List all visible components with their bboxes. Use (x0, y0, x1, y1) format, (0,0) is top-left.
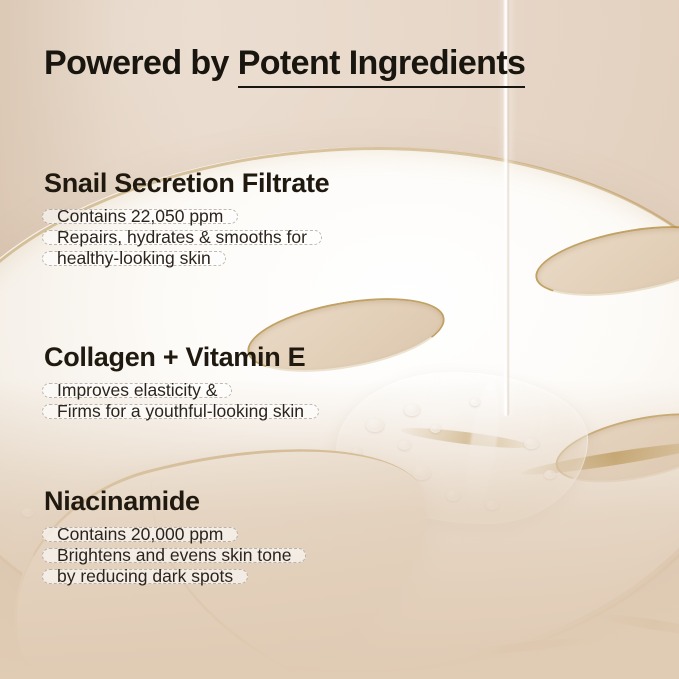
page-title-lead: Powered by (44, 44, 238, 82)
ingredient-tag: healthy-looking skin (42, 251, 226, 266)
page-title: Powered by Potent Ingredients (44, 44, 525, 83)
marketing-image: Powered by Potent Ingredients Snail Secr… (0, 0, 679, 679)
ingredient-tag-list: Contains 22,050 ppm Repairs, hydrates & … (42, 209, 329, 272)
ingredient-tag-list: Contains 20,000 ppm Brightens and evens … (42, 527, 306, 590)
ingredient-tag: by reducing dark spots (42, 569, 248, 584)
ingredient-tag-list: Improves elasticity & Firms for a youthf… (42, 383, 319, 425)
ingredient-heading: Snail Secretion Filtrate (44, 168, 329, 199)
ingredient-section-snail-secretion-filtrate: Snail Secretion Filtrate Contains 22,050… (42, 168, 329, 272)
ingredient-tag: Firms for a youthful-looking skin (42, 404, 319, 419)
ingredient-tag: Contains 22,050 ppm (42, 209, 238, 224)
ingredient-tag: Contains 20,000 ppm (42, 527, 238, 542)
ingredient-tag: Improves elasticity & (42, 383, 232, 398)
ingredient-section-collagen-vitamin-e: Collagen + Vitamin E Improves elasticity… (42, 342, 319, 425)
page-title-emphasis: Potent Ingredients (238, 44, 526, 88)
ingredient-section-niacinamide: Niacinamide Contains 20,000 ppm Brighten… (42, 486, 306, 590)
ingredient-heading: Niacinamide (44, 486, 306, 517)
ingredient-heading: Collagen + Vitamin E (44, 342, 319, 373)
ingredient-tag: Repairs, hydrates & smooths for (42, 230, 322, 245)
ingredient-tag: Brightens and evens skin tone (42, 548, 306, 563)
